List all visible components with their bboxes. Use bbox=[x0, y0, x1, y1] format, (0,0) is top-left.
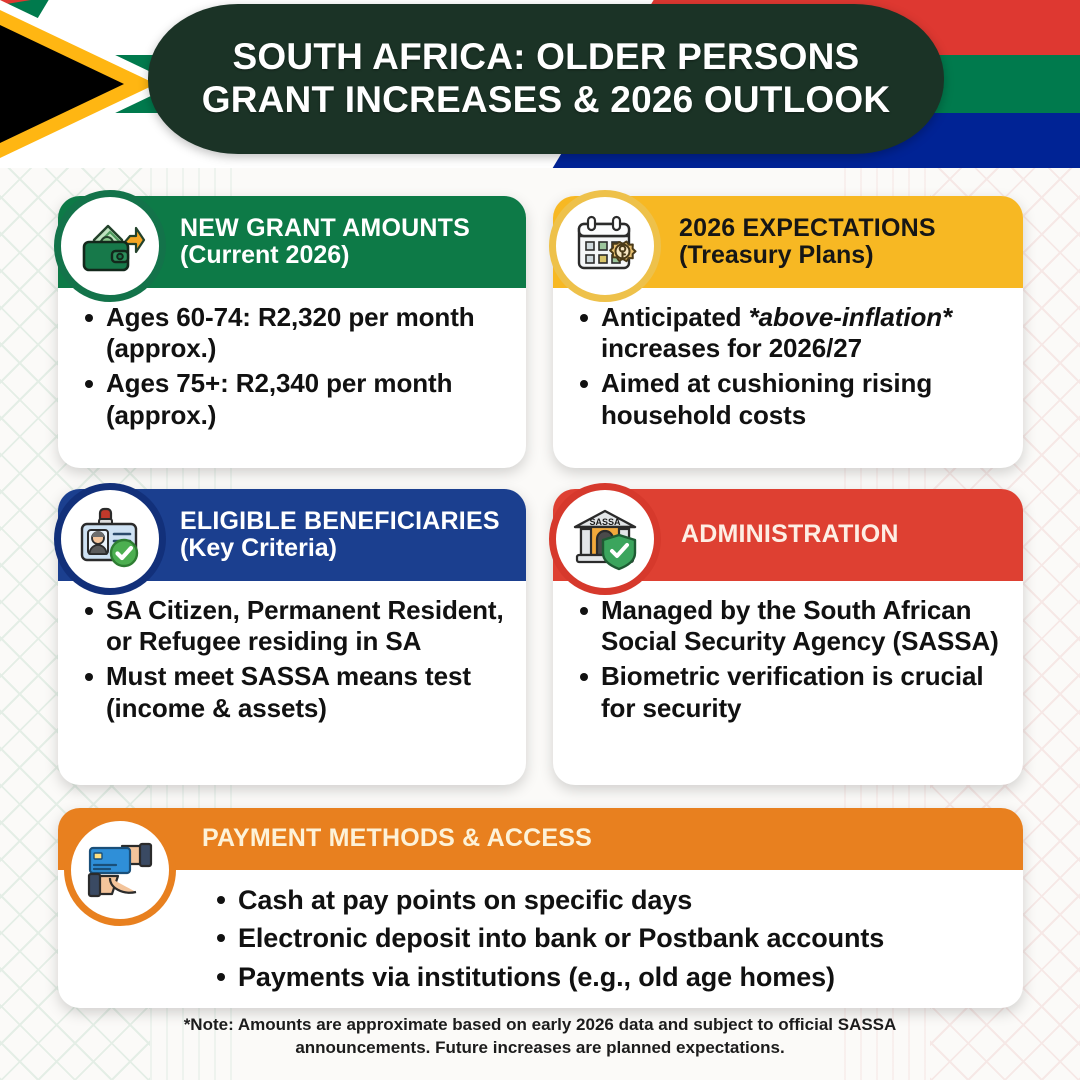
card-body-payment-methods: Cash at pay points on specific days Elec… bbox=[58, 870, 1023, 1008]
card-title-line-1: 2026 EXPECTATIONS bbox=[679, 215, 936, 243]
page-title: SOUTH AFRICA: OLDER PERSONS GRANT INCREA… bbox=[148, 4, 944, 154]
card-title-line-2: (Current 2026) bbox=[180, 242, 470, 270]
hand-card-payment-icon bbox=[64, 814, 176, 926]
header-banner: SOUTH AFRICA: OLDER PERSONS GRANT INCREA… bbox=[0, 0, 1080, 168]
card-body-2026-expectations: Anticipated *above-inflation* increases … bbox=[553, 288, 1023, 468]
bullet-text-prefix: Anticipated bbox=[601, 302, 749, 332]
card-body-eligible-beneficiaries: SA Citizen, Permanent Resident, or Refug… bbox=[58, 581, 526, 785]
card-eligible-beneficiaries: ELIGIBLE BENEFICIARIES (Key Criteria) SA… bbox=[58, 489, 526, 785]
card-body-new-grant-amounts: Ages 60-74: R2,320 per month (approx.) A… bbox=[58, 288, 526, 468]
sassa-bank-shield-icon: SASSA bbox=[549, 483, 661, 595]
card-body-administration: Managed by the South African Social Secu… bbox=[553, 581, 1023, 785]
card-2026-expectations: 2026 EXPECTATIONS (Treasury Plans) bbox=[553, 196, 1023, 468]
footnote-disclaimer: *Note: Amounts are approximate based on … bbox=[140, 1014, 940, 1060]
wallet-money-uparrow-icon bbox=[54, 190, 166, 302]
card-title-line-2: (Key Criteria) bbox=[180, 535, 500, 563]
page-title-line-1: SOUTH AFRICA: OLDER PERSONS bbox=[233, 36, 860, 79]
card-title-line-1: ADMINISTRATION bbox=[681, 521, 899, 549]
list-item: Managed by the South African Social Secu… bbox=[601, 595, 1007, 657]
card-title-line-1: ELIGIBLE BENEFICIARIES bbox=[180, 508, 500, 536]
list-item: Ages 75+: R2,340 per month (approx.) bbox=[106, 368, 510, 430]
bullet-text-suffix: increases for 2026/27 bbox=[601, 333, 862, 363]
card-header-payment-methods: PAYMENT METHODS & ACCESS bbox=[58, 808, 1023, 870]
list-item: SA Citizen, Permanent Resident, or Refug… bbox=[106, 595, 510, 657]
card-title-line-2: (Treasury Plans) bbox=[679, 242, 936, 270]
card-title-line-1: PAYMENT METHODS & ACCESS bbox=[202, 825, 592, 853]
list-item: Aimed at cushioning rising household cos… bbox=[601, 368, 1007, 430]
list-item: Cash at pay points on specific days bbox=[238, 884, 1007, 916]
id-badge-check-icon bbox=[54, 483, 166, 595]
card-administration: ADMINISTRATION SASSA Managed by the Sout… bbox=[553, 489, 1023, 785]
svg-text:SASSA: SASSA bbox=[589, 517, 621, 527]
page-title-line-2: GRANT INCREASES & 2026 OUTLOOK bbox=[202, 79, 891, 122]
list-item: Biometric verification is crucial for se… bbox=[601, 661, 1007, 723]
calendar-gear-icon bbox=[549, 190, 661, 302]
list-item: Payments via institutions (e.g., old age… bbox=[238, 961, 1007, 993]
card-new-grant-amounts: NEW GRANT AMOUNTS (Current 2026) Ages 60… bbox=[58, 196, 526, 468]
card-title-line-1: NEW GRANT AMOUNTS bbox=[180, 215, 470, 243]
list-item: Must meet SASSA means test (income & ass… bbox=[106, 661, 510, 723]
card-payment-methods: PAYMENT METHODS & ACCESS Cash at pay poi… bbox=[58, 808, 1023, 1008]
list-item: Electronic deposit into bank or Postbank… bbox=[238, 922, 1007, 954]
bullet-text-emphasis: *above-inflation* bbox=[749, 302, 952, 332]
list-item: Anticipated *above-inflation* increases … bbox=[601, 302, 1007, 364]
list-item: Ages 60-74: R2,320 per month (approx.) bbox=[106, 302, 510, 364]
